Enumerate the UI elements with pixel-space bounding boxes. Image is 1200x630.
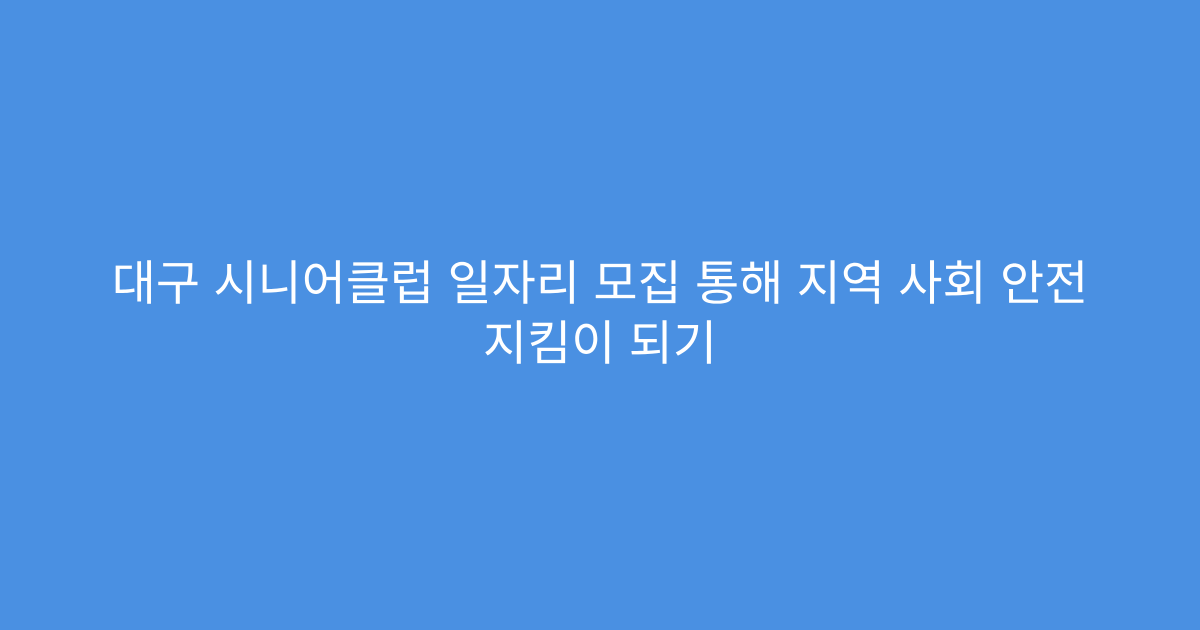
social-share-card: 대구 시니어클럽 일자리 모집 통해 지역 사회 안전 지킴이 되기 [0, 0, 1200, 630]
card-content-container: 대구 시니어클럽 일자리 모집 통해 지역 사회 안전 지킴이 되기 [0, 255, 1200, 375]
page-title: 대구 시니어클럽 일자리 모집 통해 지역 사회 안전 지킴이 되기 [60, 255, 1140, 375]
